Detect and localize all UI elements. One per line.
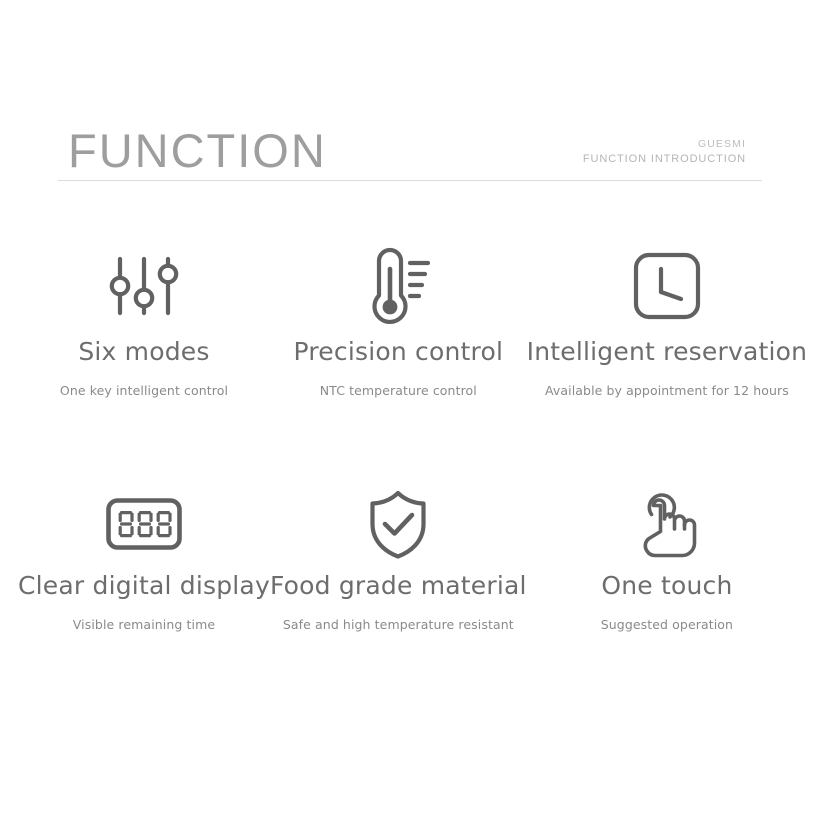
feature-grid: Six modes One key intelligent control [18,240,802,650]
clock-icon [631,240,703,332]
header-tagline: FUNCTION INTRODUCTION [583,152,746,168]
sliders-icon [105,240,183,332]
feature-card-one-touch: One touch Suggested operation [527,480,807,650]
function-introduction-page: FUNCTION GUESMI FUNCTION INTRODUCTION [0,0,820,820]
feature-subtitle: One key intelligent control [60,383,228,398]
feature-card-clear-digital-display: Clear digital display Visible remaining … [18,480,270,650]
feature-subtitle: Safe and high temperature resistant [283,617,514,632]
shield-check-icon [365,480,431,568]
feature-card-six-modes: Six modes One key intelligent control [18,240,270,410]
feature-card-food-grade-material: Food grade material Safe and high temper… [270,480,527,650]
tap-hand-icon [627,480,707,568]
feature-title: One touch [601,572,732,600]
thermometer-icon [357,240,439,332]
header-divider [58,180,762,181]
feature-title: Precision control [294,338,504,366]
digital-display-icon [105,480,183,568]
brand-name: GUESMI [583,137,746,152]
feature-subtitle: Available by appointment for 12 hours [545,383,789,398]
feature-subtitle: NTC temperature control [320,383,477,398]
header-subtitle-block: GUESMI FUNCTION INTRODUCTION [583,137,762,180]
page-title: FUNCTION [58,127,327,180]
feature-card-intelligent-reservation: Intelligent reservation Available by app… [527,240,807,410]
feature-title: Food grade material [270,572,527,600]
feature-title: Clear digital display [18,572,270,600]
feature-title: Six modes [78,338,209,366]
feature-card-precision-control: Precision control NTC temperature contro… [270,240,527,410]
feature-subtitle: Visible remaining time [73,617,215,632]
page-header: FUNCTION GUESMI FUNCTION INTRODUCTION [58,104,762,182]
feature-subtitle: Suggested operation [601,617,733,632]
feature-title: Intelligent reservation [527,338,807,366]
